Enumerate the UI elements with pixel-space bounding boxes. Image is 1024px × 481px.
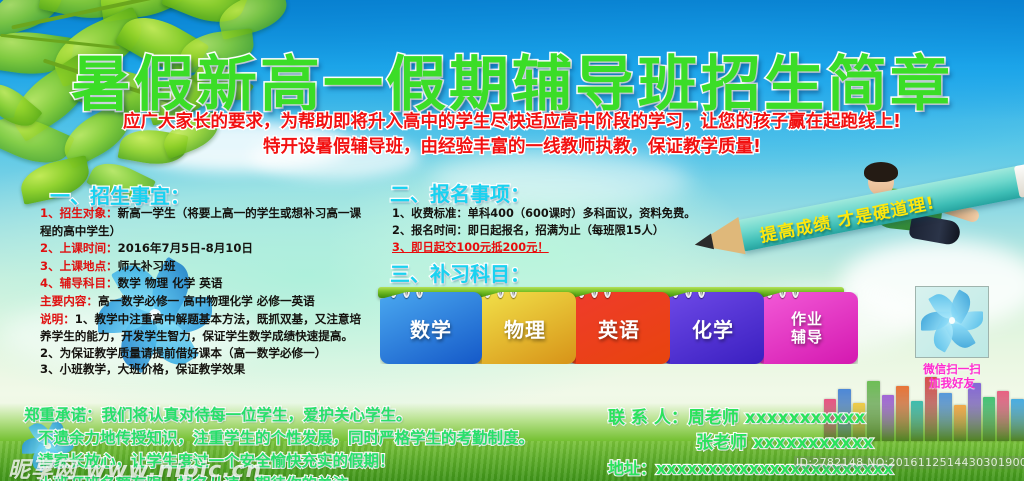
pencil-banner: 提高成绩 才是硬道理! [700, 160, 1024, 290]
qr-caption-line-1: 微信扫一扫 [923, 362, 981, 376]
section-1-row-value: 程的高中学生） [40, 224, 121, 238]
section-2-row: 1、收费标准：单科400（600课时）多科面议，资料免费。 [392, 205, 722, 222]
contact-line-1: 联 系 人：周老师 xxxxxxxxxxx [608, 408, 865, 428]
site-watermark: 昵享网 www.nipic.cn [8, 452, 338, 481]
page-subtitle: 应广大家长的要求，为帮助即将升入高中的学生尽快适应高中阶段的学习，让您的孩子赢在… [0, 110, 1024, 160]
section-1-row: 4、辅导科目：数学 物理 化学 英语 [40, 275, 390, 292]
section-1-row-key: 1、招生对象： [40, 206, 118, 220]
section-1-row: 程的高中学生） [40, 223, 390, 240]
section-1-row: 说明：1、教学中注重高中解题基本方法，既抓双基，又注意培 [40, 311, 390, 328]
section-1-row-key: 3、上课地点： [40, 259, 118, 273]
section-1-row-value: 师大补习班 [118, 259, 176, 273]
qr-code-placeholder[interactable] [915, 286, 989, 358]
boy-hair [864, 162, 898, 182]
subject-card-数学[interactable]: 数学 [380, 292, 482, 364]
section-2-row: 3、即日起交100元抵200元！ [392, 239, 722, 256]
wechat-qr-block[interactable]: 微信扫一扫 加我好友 [897, 286, 1007, 390]
section-1-row-value: 新高一学生（将要上高一的学生或想补习高一课 [118, 206, 361, 220]
section-1-row: 主要内容：高一数学必修一 高中物理化学 必修一英语 [40, 293, 390, 310]
poster-canvas: 暑假新高一假期辅导班招生简章 应广大家长的要求，为帮助即将升入高中的学生尽快适应… [0, 0, 1024, 481]
section-1-text-line: 3、小班教学，大班价格，保证教学效果 [40, 361, 390, 378]
section-1-row-key: 4、辅导科目： [40, 276, 118, 290]
subject-card-英语[interactable]: 英语 [568, 292, 670, 364]
section-1-row-value: 2016年7月5日-8月10日 [118, 241, 253, 255]
subject-card-化学[interactable]: 化学 [662, 292, 764, 364]
subject-card-label: 英语 [598, 314, 640, 343]
section-3-heading: 三、补习科目： [390, 258, 530, 287]
section-1-row-value: 1、教学中注重高中解题基本方法，既抓双基，又注意培 [75, 312, 361, 326]
section-1-row-key: 2、上课时间： [40, 241, 118, 255]
pinwheel-hub [949, 317, 955, 323]
section-1-row: 2、上课时间：2016年7月5日-8月10日 [40, 240, 390, 257]
section-1-text-line: 2、为保证教学质量请提前借好课本（高一数学必修一） [40, 345, 390, 362]
section-1-row: 3、上课地点：师大补习班 [40, 258, 390, 275]
subtitle-line-2: 特开设暑假辅导班，由经验丰富的一线教师执教，保证教学质量! [0, 135, 1024, 160]
qr-caption: 微信扫一扫 加我好友 [897, 362, 1007, 390]
promise-line-1: 郑重承诺：我们将认真对待每一位学生，爱护关心学生。 [24, 404, 584, 427]
section-1-row-key: 主要内容： [40, 294, 98, 308]
section-2-body: 1、收费标准：单科400（600课时）多科面议，资料免费。2、报名时间：即日起报… [392, 205, 722, 256]
subject-card-list: 数学物理英语化学作业辅导 [380, 292, 850, 370]
contact-line-2: 张老师 xxxxxxxxxxx [608, 431, 1024, 456]
section-2-row: 2、报名时间：即日起报名，招满为止（每班限15人） [392, 222, 722, 239]
section-1-body: 1、招生对象：新高一学生（将要上高一的学生或想补习高一课程的高中学生）2、上课时… [40, 205, 390, 378]
section-1-text-line: 养学生的能力，开发学生智力，保证学生数学成绩快速提高。 [40, 328, 390, 345]
subject-card-label: 数学 [410, 314, 452, 343]
section-2-heading: 二、报名事项： [390, 178, 530, 207]
subtitle-line-1: 应广大家长的要求，为帮助即将升入高中的学生尽快适应高中阶段的学习，让您的孩子赢在… [123, 112, 901, 132]
section-1-row-key: 说明： [40, 312, 75, 326]
subject-card-label: 物理 [504, 314, 546, 343]
id-watermark: ID:2782148 NO:20161125144303019000 [794, 456, 1024, 469]
pinwheel-icon-qr [920, 289, 984, 353]
section-1-row-value: 高一数学必修一 高中物理化学 必修一英语 [98, 294, 315, 308]
qr-caption-line-2: 加我好友 [929, 376, 975, 390]
subject-card-homework[interactable]: 作业辅导 [756, 292, 858, 364]
section-1-rows: 1、招生对象：新高一学生（将要上高一的学生或想补习高一课程的高中学生）2、上课时… [40, 205, 390, 327]
subject-card-物理[interactable]: 物理 [474, 292, 576, 364]
subject-card-label: 化学 [692, 314, 734, 343]
boy-legs [908, 214, 961, 246]
section-1-continuation: 养学生的能力，开发学生智力，保证学生数学成绩快速提高。2、为保证教学质量请提前借… [40, 328, 390, 378]
contact-block: 联 系 人：周老师 xxxxxxxxxxx 张老师 xxxxxxxxxxx 地址… [608, 406, 1024, 481]
promise-line-2: 不遗余力地传授知识，注重学生的个性发展，同时严格学生的考勤制度。 [24, 427, 584, 450]
section-2-rows: 1、收费标准：单科400（600课时）多科面议，资料免费。2、报名时间：即日起报… [392, 205, 722, 256]
subject-card-label: 作业辅导 [791, 310, 823, 346]
section-1-row: 1、招生对象：新高一学生（将要上高一的学生或想补习高一课 [40, 205, 390, 222]
section-1-row-value: 数学 物理 化学 英语 [118, 276, 223, 290]
